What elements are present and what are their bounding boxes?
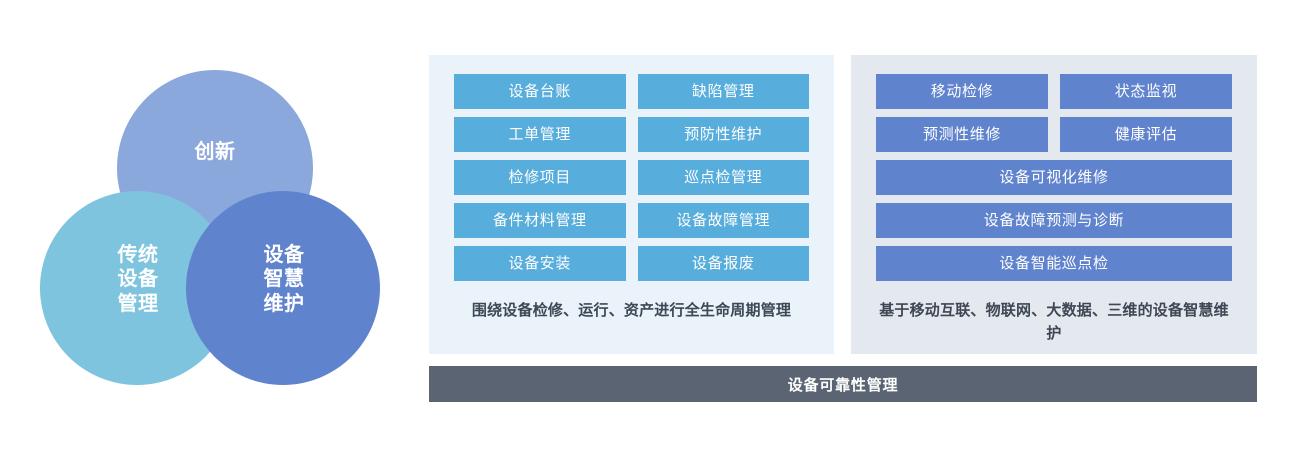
venn-diagram: 创新 传统 设备 管理 设备 智慧 维护 bbox=[0, 0, 420, 451]
tile-button[interactable]: 移动检修 bbox=[876, 74, 1048, 109]
tile-button[interactable]: 设备故障预测与诊断 bbox=[876, 203, 1232, 238]
panel-equipment-smart-maintenance: 移动检修状态监视预测性维修健康评估设备可视化维修设备故障预测与诊断设备智能巡点检… bbox=[851, 55, 1257, 354]
panel-caption-traditional: 围绕设备检修、运行、资产进行全生命周期管理 bbox=[454, 299, 809, 322]
footer-banner-label: 设备可靠性管理 bbox=[788, 374, 899, 395]
tile-button[interactable]: 设备安装 bbox=[454, 246, 626, 281]
tile-button[interactable]: 缺陷管理 bbox=[638, 74, 810, 109]
tile-button[interactable]: 状态监视 bbox=[1060, 74, 1232, 109]
panel-caption-smart: 基于移动互联、物联网、大数据、三维的设备智慧维护 bbox=[876, 299, 1232, 346]
venn-circle-equipment-smart-maintenance bbox=[186, 191, 380, 385]
tile-button[interactable]: 巡点检管理 bbox=[638, 160, 810, 195]
tile-button[interactable]: 检修项目 bbox=[454, 160, 626, 195]
tile-button[interactable]: 预测性维修 bbox=[876, 117, 1048, 152]
tile-button[interactable]: 设备故障管理 bbox=[638, 203, 810, 238]
venn-circles-graphic bbox=[0, 0, 420, 451]
panel-traditional-equipment-management: 设备台账缺陷管理工单管理预防性维护检修项目巡点检管理备件材料管理设备故障管理设备… bbox=[429, 55, 834, 354]
tile-button[interactable]: 预防性维护 bbox=[638, 117, 810, 152]
slide-canvas: 创新 传统 设备 管理 设备 智慧 维护 设备台账缺陷管理工单管理预防性维护检修… bbox=[0, 0, 1307, 451]
tile-button[interactable]: 健康评估 bbox=[1060, 117, 1232, 152]
tile-button[interactable]: 备件材料管理 bbox=[454, 203, 626, 238]
tile-button[interactable]: 设备台账 bbox=[454, 74, 626, 109]
footer-banner-equipment-reliability-management: 设备可靠性管理 bbox=[429, 366, 1257, 402]
tile-grid-traditional: 设备台账缺陷管理工单管理预防性维护检修项目巡点检管理备件材料管理设备故障管理设备… bbox=[454, 74, 809, 281]
tile-grid-smart: 移动检修状态监视预测性维修健康评估设备可视化维修设备故障预测与诊断设备智能巡点检 bbox=[876, 74, 1232, 281]
tile-button[interactable]: 设备智能巡点检 bbox=[876, 246, 1232, 281]
tile-button[interactable]: 工单管理 bbox=[454, 117, 626, 152]
tile-button[interactable]: 设备报废 bbox=[638, 246, 810, 281]
tile-button[interactable]: 设备可视化维修 bbox=[876, 160, 1232, 195]
